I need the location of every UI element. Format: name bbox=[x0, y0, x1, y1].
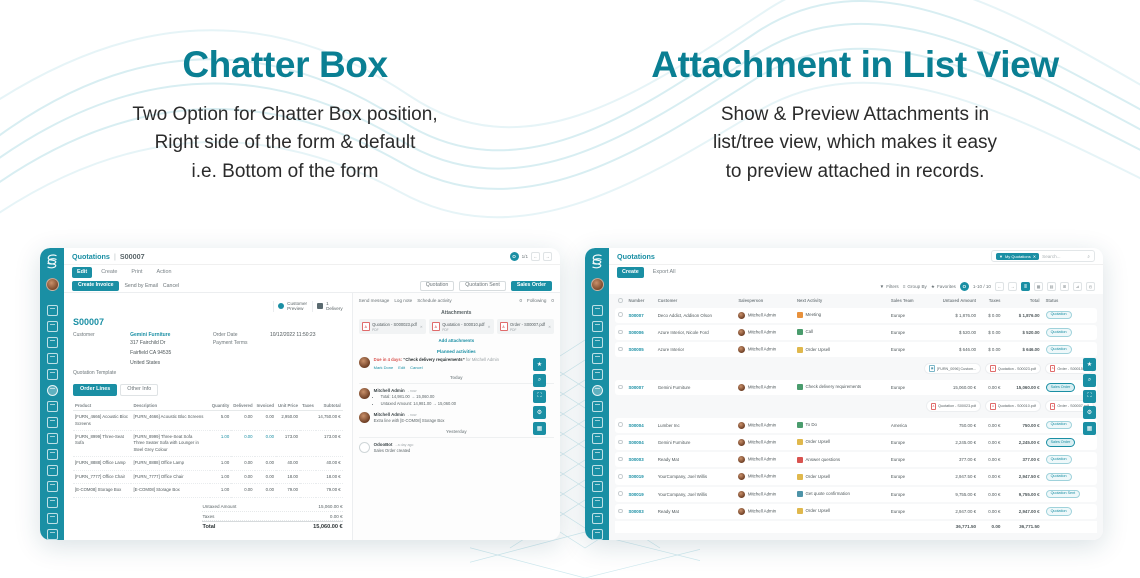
status-badge: Quotation bbox=[1046, 311, 1072, 319]
search-icon[interactable]: ⌕ bbox=[1087, 254, 1090, 259]
col-product[interactable]: Product bbox=[73, 400, 131, 411]
add-attachments-button[interactable]: Add attachments bbox=[359, 338, 554, 343]
col-next-activity[interactable]: Next Activity bbox=[794, 296, 888, 306]
page-subtitle-left: Two Option for Chatter Box position, Rig… bbox=[0, 101, 570, 188]
totals-block: Untaxed Amount 15,060.00 € Taxes 0.00 € … bbox=[202, 503, 342, 532]
attachment-chip[interactable]: AQuotation - S00023.pdf bbox=[926, 400, 982, 412]
sidebar-icon-calendar[interactable] bbox=[592, 337, 603, 348]
right-headline-block: Attachment in List View Show & Preview A… bbox=[570, 0, 1140, 187]
floating-action-rail-right: ★ ⌕ ⛶ ⚙ ▦ bbox=[1083, 358, 1096, 435]
col-untaxed-amount[interactable]: Untaxed Amount bbox=[926, 296, 979, 306]
table-header-row: Number Customer Salesperson Next Activit… bbox=[615, 296, 1097, 306]
field-label: Customer bbox=[73, 332, 130, 338]
cell-checkbox[interactable] bbox=[615, 452, 626, 467]
table-row[interactable]: [FURN_8888] Office Lamp[FURN_8888] Offic… bbox=[73, 457, 343, 471]
cell-quantity: 5.00 bbox=[210, 411, 231, 431]
cell-total: $ 1,876.00 bbox=[1003, 308, 1042, 323]
smart-button-count: 1 bbox=[326, 301, 329, 306]
form-fields-column: Customer Preview 1 Delivery S00007 bbox=[64, 293, 352, 540]
cell-taxes bbox=[300, 484, 316, 498]
cell-checkbox[interactable] bbox=[615, 504, 626, 519]
cell-number: S00005 bbox=[626, 342, 655, 357]
cell-checkbox[interactable] bbox=[615, 418, 626, 433]
sidebar-icon-messages[interactable] bbox=[592, 305, 603, 316]
sidebar-icon-recruitment[interactable] bbox=[47, 497, 58, 508]
form-topbar: Quotations | S00007 O 1/1 ← → bbox=[64, 248, 560, 265]
avatar bbox=[738, 312, 745, 319]
cell-sales-team: Europe bbox=[888, 504, 926, 519]
field-value[interactable]: 10/12/2022 11:50:23 bbox=[270, 332, 316, 338]
cell-total: 9,755.00 € bbox=[1003, 487, 1042, 502]
cell-taxes bbox=[300, 411, 316, 431]
attachment-chip[interactable]: ▣[FURN_0096] Custom... bbox=[924, 363, 981, 375]
cell-next-activity: To Do bbox=[794, 418, 888, 433]
cell-delivered: 0.00 bbox=[231, 411, 254, 431]
sidebar-icon-manufacturing[interactable] bbox=[47, 433, 58, 444]
field-column-left: Customer Gemini Furniture 317 Fairchild … bbox=[73, 332, 203, 378]
cell-total: 2,947.00 € bbox=[1003, 504, 1042, 519]
graph-view-icon[interactable]: ⊿ bbox=[1073, 282, 1082, 291]
cell-sales-team: America bbox=[888, 418, 926, 433]
log-note-button[interactable]: Log note bbox=[394, 298, 412, 303]
cell-next-activity: Answer questions bbox=[794, 452, 888, 467]
order-lines-body: [FURN_4666] Acoustic Bloc Screens[FURN_4… bbox=[73, 411, 343, 498]
cell-next-activity: Meeting bbox=[794, 308, 888, 323]
cell-untaxed-amount: $ 646.00 bbox=[926, 342, 979, 357]
breadcrumb-root[interactable]: Quotations bbox=[72, 252, 110, 261]
star-icon[interactable]: ★ bbox=[1083, 358, 1096, 371]
cell-checkbox[interactable] bbox=[615, 308, 626, 323]
star-icon[interactable]: ★ bbox=[533, 358, 546, 371]
sidebar-icon-manufacturing[interactable] bbox=[592, 433, 603, 444]
row-checkbox[interactable] bbox=[618, 422, 623, 427]
cell-total: $ 646.00 bbox=[1003, 342, 1042, 357]
sidebar-icon-website[interactable] bbox=[592, 465, 603, 476]
message-author: Mitchell Admin- now bbox=[374, 388, 554, 393]
activity-edit-button[interactable]: Edit bbox=[398, 365, 405, 370]
stage-quotation[interactable]: Quotation bbox=[420, 281, 455, 291]
field-label: Quotation Template bbox=[73, 370, 130, 376]
remove-attachment-icon[interactable]: ✕ bbox=[548, 325, 551, 329]
sidebar-icon-crm[interactable] bbox=[592, 369, 603, 380]
sidebar-icon-employees[interactable] bbox=[592, 481, 603, 492]
cell-untaxed-amount: 2,245.00 € bbox=[926, 435, 979, 450]
table-footer-row: 36,771.50 0.00 36,771.50 bbox=[615, 521, 1097, 533]
day-separator: Today bbox=[359, 375, 554, 384]
cell-total: 377.00 € bbox=[1003, 452, 1042, 467]
col-delivered[interactable]: Delivered bbox=[231, 400, 254, 411]
col-customer[interactable]: Customer bbox=[655, 296, 736, 306]
total-label: Taxes bbox=[202, 514, 214, 519]
attachment-chip[interactable]: AQuotation - S00010.pdfPDF✕ bbox=[429, 319, 494, 334]
message-thread: TodayMitchell Admin- nowTotal: 14,981.00… bbox=[359, 375, 554, 454]
cell-number: S00019 bbox=[626, 487, 655, 502]
cell-subtotal: 14,750.00 € bbox=[316, 411, 343, 431]
table-row[interactable]: S00019YourCompany, Joel WillisMitchell A… bbox=[615, 469, 1097, 484]
calendar-view-icon[interactable]: ▤ bbox=[1047, 282, 1056, 291]
export-all-button[interactable]: Export All bbox=[648, 267, 681, 278]
cell-subtotal: 79.00 € bbox=[316, 484, 343, 498]
pdf-file-icon: A bbox=[1050, 365, 1056, 372]
schedule-activity-button[interactable]: Schedule activity bbox=[417, 298, 451, 303]
activity-assignee: for Mitchell Admin bbox=[466, 357, 499, 362]
cell-invoiced: 0.00 bbox=[255, 411, 276, 431]
cell-status: Quotation bbox=[1043, 452, 1097, 467]
cell-unit-price: 79.00 bbox=[276, 484, 300, 498]
sidebar-icon-discuss[interactable] bbox=[47, 321, 58, 332]
favorites-button[interactable]: ★ Favorites bbox=[931, 284, 956, 290]
field-order-date: Order Date 10/12/2022 11:50:23 bbox=[213, 332, 343, 338]
cell-total: $ 520.00 bbox=[1003, 325, 1042, 340]
sidebar-icon-website[interactable] bbox=[47, 465, 58, 476]
sidebar-icon-sales[interactable] bbox=[592, 385, 603, 396]
avatar bbox=[738, 439, 745, 446]
record-title: S00007 bbox=[73, 317, 343, 327]
attachment-type: PDF bbox=[442, 328, 448, 332]
cell-subtotal: 18.00 € bbox=[316, 470, 343, 484]
pdf-file-icon: A bbox=[362, 322, 370, 331]
col-taxes[interactable]: Taxes bbox=[300, 400, 316, 411]
row-checkbox[interactable] bbox=[618, 509, 623, 514]
activity-view-icon[interactable]: ◴ bbox=[1086, 282, 1095, 291]
cell-checkbox[interactable] bbox=[615, 487, 626, 502]
cell-sales-team: Europe bbox=[888, 452, 926, 467]
sidebar-icon-sales[interactable] bbox=[47, 385, 58, 396]
breadcrumb-root[interactable]: Quotations bbox=[617, 252, 655, 261]
table-row[interactable]: [E-COM08] Storage Box[E-COM08] Storage B… bbox=[73, 484, 343, 498]
breadcrumb-separator: | bbox=[114, 252, 116, 261]
cell-next-activity: Order Upsell bbox=[794, 469, 888, 484]
table-row[interactable]: S00019YourCompany, Joel WillisMitchell A… bbox=[615, 487, 1097, 502]
cell-sales-team: Europe bbox=[888, 487, 926, 502]
create-invoice-button[interactable]: Create Invoice bbox=[72, 281, 119, 291]
sidebar-icon-inventory[interactable] bbox=[47, 417, 58, 428]
sidebar-icon-invoicing[interactable] bbox=[47, 401, 58, 412]
cell-checkbox[interactable] bbox=[615, 435, 626, 450]
list-topbar: Quotations ▼ My Quotations ✕ Search... ⌕ bbox=[609, 248, 1103, 265]
followers-count[interactable]: 0 bbox=[519, 298, 522, 303]
message-line: Extra line with [E-COM08] Storage Box bbox=[374, 418, 554, 424]
table-row[interactable]: [FURN_8999] Three-Seat Sofa[FURN_8999] T… bbox=[73, 431, 343, 457]
stage-quotation-sent[interactable]: Quotation Sent bbox=[459, 281, 506, 291]
row-checkbox[interactable] bbox=[618, 491, 623, 496]
footer-total: 36,771.50 bbox=[1003, 521, 1042, 533]
avatar bbox=[359, 442, 370, 453]
sidebar-icon-inventory[interactable] bbox=[592, 417, 603, 428]
group-by-button[interactable]: ≡ Group By bbox=[903, 284, 927, 289]
sidebar-icon-invoicing[interactable] bbox=[592, 401, 603, 412]
pdf-file-icon: A bbox=[931, 403, 937, 410]
customer-preview-smart-button[interactable]: Customer Preview bbox=[273, 301, 307, 312]
activity-mark-done-button[interactable]: Mark Done bbox=[374, 365, 394, 370]
cell-customer: YourCompany, Joel Willis bbox=[655, 469, 736, 484]
row-checkbox[interactable] bbox=[618, 440, 623, 445]
grid-icon[interactable]: ▦ bbox=[533, 422, 546, 435]
col-number[interactable]: Number bbox=[626, 296, 655, 306]
avatar bbox=[738, 422, 745, 429]
col-sales-team[interactable]: Sales Team bbox=[888, 296, 926, 306]
cell-sales-team: Europe bbox=[888, 342, 926, 357]
cell-total: 750.00 € bbox=[1003, 418, 1042, 433]
attachment-name: Quotation - S00023.pdf bbox=[938, 404, 976, 408]
activity-cancel-button[interactable]: Cancel bbox=[410, 365, 422, 370]
odoo-logo-icon[interactable] bbox=[588, 252, 606, 270]
col-subtotal[interactable]: Subtotal bbox=[316, 400, 343, 411]
avatar bbox=[738, 346, 745, 353]
send-message-button[interactable]: Send message bbox=[359, 298, 390, 303]
field-value: United States bbox=[130, 360, 160, 368]
cell-salesperson: Mitchell Admin bbox=[735, 469, 794, 484]
filter-icon: ▼ bbox=[880, 284, 885, 289]
field-value[interactable]: Gemini Furniture bbox=[130, 332, 170, 338]
field-grid: Customer Gemini Furniture 317 Fairchild … bbox=[73, 332, 343, 378]
following-button[interactable]: Following bbox=[527, 298, 546, 303]
sidebar-icon-messages[interactable] bbox=[47, 305, 58, 316]
cell-total: 2,245.00 € bbox=[1003, 435, 1042, 450]
sidebar-icon-settings[interactable] bbox=[47, 529, 58, 540]
table-row[interactable]: [FURN_7777] Office Chair[FURN_7777] Offi… bbox=[73, 470, 343, 484]
chatter-box: Send message Log note Schedule activity … bbox=[352, 293, 560, 540]
smart-button-label-2: Preview bbox=[287, 306, 303, 311]
col-salesperson[interactable]: Salesperson bbox=[735, 296, 794, 306]
sidebar-icon-contacts[interactable] bbox=[592, 353, 603, 364]
sidebar-icon-settings[interactable] bbox=[592, 529, 603, 540]
cell-taxes: 0.00 € bbox=[979, 504, 1003, 519]
cell-salesperson: Mitchell Admin bbox=[735, 435, 794, 450]
planned-activities-header: Planned activities bbox=[359, 349, 554, 354]
cell-checkbox[interactable] bbox=[615, 469, 626, 484]
order-lines-table: Product Description Quantity Delivered I… bbox=[73, 400, 343, 498]
attachment-chip[interactable]: AOrder - S00007.pdfPDF✕ bbox=[497, 319, 554, 334]
day-separator: Yesterday bbox=[359, 429, 554, 438]
cell-salesperson: Mitchell Admin bbox=[735, 342, 794, 357]
form-pane: Quotations | S00007 O 1/1 ← → Edit Creat… bbox=[64, 248, 560, 540]
field-payment-terms: Payment Terms bbox=[213, 340, 343, 346]
col-status[interactable]: Status bbox=[1043, 296, 1097, 306]
row-checkbox[interactable] bbox=[618, 312, 623, 317]
cell-taxes bbox=[300, 457, 316, 471]
pager-prev-button[interactable]: ← bbox=[531, 252, 540, 261]
status-badge: Quotation bbox=[1046, 455, 1072, 463]
favorites-label: Favorites bbox=[937, 284, 956, 289]
field-value: Fairfield CA 94535 bbox=[130, 350, 171, 358]
search-icon[interactable]: ⌕ bbox=[1083, 374, 1096, 387]
row-checkbox[interactable] bbox=[618, 385, 623, 390]
cell-status: Quotation bbox=[1043, 325, 1097, 340]
left-headline-block: Chatter Box Two Option for Chatter Box p… bbox=[0, 0, 570, 187]
avatar bbox=[738, 491, 745, 498]
settings-icon[interactable]: ⚙ bbox=[1083, 406, 1096, 419]
list-toolbar: ▼ Filters ≡ Group By ★ Favorites O 1-10 … bbox=[609, 280, 1103, 294]
settings-icon[interactable]: ⚙ bbox=[533, 406, 546, 419]
sidebar-icon-apps[interactable] bbox=[47, 513, 58, 524]
cell-customer: Lumber Inc bbox=[655, 418, 736, 433]
cell-untaxed-amount: 2,947.00 € bbox=[926, 504, 979, 519]
expand-icon[interactable]: ⛶ bbox=[1083, 390, 1096, 403]
search-facet[interactable]: ▼ My Quotations ✕ bbox=[996, 253, 1039, 260]
avatar[interactable] bbox=[591, 278, 604, 291]
attachment-list: AQuotation - S000023.pdfPDF✕AQuotation -… bbox=[359, 319, 554, 334]
row-checkbox[interactable] bbox=[618, 457, 623, 462]
create-button[interactable]: Create bbox=[617, 267, 644, 278]
cell-next-activity: Check delivery requirements bbox=[794, 380, 888, 395]
edit-button[interactable]: Edit bbox=[72, 267, 92, 278]
row-checkbox[interactable] bbox=[618, 330, 623, 335]
list-view-icon[interactable]: ≣ bbox=[1021, 282, 1030, 291]
activity-due: Due in 4 days: bbox=[374, 357, 402, 362]
table-row[interactable]: S00007Gemini FurnitureMitchell AdminChec… bbox=[615, 380, 1097, 395]
sidebar-icon-contacts[interactable] bbox=[47, 353, 58, 364]
avatar bbox=[738, 329, 745, 336]
col-quantity[interactable]: Quantity bbox=[210, 400, 231, 411]
cell-salesperson: Mitchell Admin bbox=[735, 418, 794, 433]
table-row[interactable]: S00004Gemini FurnitureMitchell AdminOrde… bbox=[615, 435, 1097, 450]
attachment-name: [FURN_0096] Custom... bbox=[937, 367, 976, 371]
cell-unit-price: 2,950.00 bbox=[276, 411, 300, 431]
total-untaxed: Untaxed Amount 15,060.00 € bbox=[202, 503, 342, 512]
attachment-name: Order - S00007.pdf bbox=[510, 322, 545, 327]
sidebar-icon-recruitment[interactable] bbox=[592, 497, 603, 508]
cell-customer: Azure Interior, Nicole Ford bbox=[655, 325, 736, 340]
cell-status: Sales Order bbox=[1043, 435, 1097, 450]
total-value: 15,060.00 € bbox=[318, 504, 342, 509]
col-unit-price[interactable]: Unit Price bbox=[276, 400, 300, 411]
cell-status: Quotation bbox=[1043, 504, 1097, 519]
col-invoiced[interactable]: Invoiced bbox=[255, 400, 276, 411]
row-checkbox[interactable] bbox=[618, 347, 623, 352]
table-row[interactable]: S00005Azure InteriorMitchell AdminOrder … bbox=[615, 342, 1097, 357]
cell-number: S00004 bbox=[626, 435, 655, 450]
attachment-row: ▣[FURN_0096] Custom...AQuotation - S0002… bbox=[615, 359, 1097, 377]
pdf-file-icon: A bbox=[500, 322, 508, 331]
table-row[interactable]: [FURN_4666] Acoustic Bloc Screens[FURN_4… bbox=[73, 411, 343, 431]
cell-quantity: 1.00 bbox=[210, 470, 231, 484]
search-facet-label: My Quotations bbox=[1005, 254, 1031, 259]
tab-order-lines[interactable]: Order Lines bbox=[73, 384, 117, 396]
grid-icon[interactable]: ▦ bbox=[1083, 422, 1096, 435]
cell-checkbox[interactable] bbox=[615, 380, 626, 395]
pager-next-button[interactable]: → bbox=[543, 252, 552, 261]
attachment-name: Quotation - S00023.pdf bbox=[998, 367, 1036, 371]
cell-checkbox[interactable] bbox=[615, 325, 626, 340]
stage-sales-order[interactable]: Sales Order bbox=[511, 281, 552, 291]
cell-next-activity: Order Upsell bbox=[794, 435, 888, 450]
pager-range: 1-10 / 10 bbox=[973, 284, 991, 289]
cell-checkbox[interactable] bbox=[615, 342, 626, 357]
search-icon[interactable]: ⌕ bbox=[533, 374, 546, 387]
breadcrumb[interactable]: Quotations bbox=[617, 252, 655, 261]
follower-badge[interactable]: 0 bbox=[551, 298, 554, 303]
message-item: Mitchell Admin- nowTotal: 14,981.00 → 15… bbox=[359, 388, 554, 407]
sidebar-icon-employees[interactable] bbox=[47, 481, 58, 492]
attachment-name: Quotation - S00010.pdf bbox=[442, 322, 484, 327]
cell-taxes: 0.00 € bbox=[979, 487, 1003, 502]
remove-attachment-icon[interactable]: ✕ bbox=[420, 325, 423, 329]
cell-untaxed-amount: 750.00 € bbox=[926, 418, 979, 433]
status-badge: Quotation bbox=[1046, 421, 1072, 429]
sidebar-icon-apps[interactable] bbox=[592, 513, 603, 524]
cell-product: [FURN_8999] Three-Seat Sofa bbox=[73, 431, 131, 457]
record-indicator-icon: O bbox=[510, 252, 519, 261]
sidebar-icon-purchase[interactable] bbox=[592, 449, 603, 460]
pager-next-button[interactable]: → bbox=[1008, 282, 1017, 291]
status-badge: Quotation bbox=[1046, 345, 1072, 353]
cell-subtotal: 173.00 € bbox=[316, 431, 343, 457]
odoo-logo-icon[interactable] bbox=[43, 252, 61, 270]
table-row[interactable]: S00004Lumber IncMitchell AdminTo DoAmeri… bbox=[615, 418, 1097, 433]
sidebar-icon-discuss[interactable] bbox=[592, 321, 603, 332]
create-button[interactable]: Create bbox=[96, 267, 122, 278]
status-badge: Sales Order bbox=[1046, 383, 1076, 391]
app-sidebar-left[interactable] bbox=[40, 248, 64, 540]
cell-taxes bbox=[300, 431, 316, 457]
attachment-name: Quotation - S000023.pdf bbox=[372, 322, 417, 327]
print-button[interactable]: Print bbox=[126, 267, 147, 278]
search-input[interactable]: ▼ My Quotations ✕ Search... ⌕ bbox=[991, 250, 1095, 262]
message-time: - now bbox=[408, 413, 417, 417]
avatar[interactable] bbox=[46, 278, 59, 291]
expand-icon[interactable]: ⛶ bbox=[533, 390, 546, 403]
cell-sales-team: Europe bbox=[888, 469, 926, 484]
total-value: 15,060.00 € bbox=[313, 524, 343, 530]
cell-description: [FURN_8999] Three-Seat SofaThree Seater … bbox=[131, 431, 209, 457]
delivery-smart-button[interactable]: 1 Delivery bbox=[312, 301, 343, 312]
field-label: Payment Terms bbox=[213, 340, 270, 346]
table-row[interactable]: S00003Ready MatMitchell AdminOrder Upsel… bbox=[615, 504, 1097, 519]
sidebar-icon-crm[interactable] bbox=[47, 369, 58, 380]
sidebar-icon-calendar[interactable] bbox=[47, 337, 58, 348]
cell-quantity: 1.00 bbox=[210, 431, 231, 457]
chatter-toolbar: Send message Log note Schedule activity … bbox=[359, 297, 554, 307]
attachment-chip[interactable]: AQuotation - S00010.pdf bbox=[985, 400, 1041, 412]
attachment-chip[interactable]: AQuotation - S00023.pdf bbox=[985, 363, 1041, 375]
kanban-view-icon[interactable]: ▦ bbox=[1034, 282, 1043, 291]
col-taxes[interactable]: Taxes bbox=[979, 296, 1003, 306]
table-row[interactable]: S00007Deco Addict, Addison OlsonMitchell… bbox=[615, 308, 1097, 323]
cell-untaxed-amount: 377.00 € bbox=[926, 452, 979, 467]
remove-facet-icon[interactable]: ✕ bbox=[1033, 254, 1036, 259]
cell-product: [E-COM08] Storage Box bbox=[73, 484, 131, 498]
app-sidebar-right[interactable] bbox=[585, 248, 609, 540]
activity-type-icon bbox=[797, 508, 803, 514]
quotations-table: Number Customer Salesperson Next Activit… bbox=[609, 294, 1103, 535]
select-all-checkbox[interactable] bbox=[618, 298, 623, 303]
col-description[interactable]: Description bbox=[131, 400, 209, 411]
filters-button[interactable]: ▼ Filters bbox=[880, 284, 899, 289]
send-by-email-button[interactable]: Send by Email bbox=[124, 283, 157, 289]
cell-number: S00003 bbox=[626, 452, 655, 467]
list-indicator-icon: O bbox=[960, 282, 969, 291]
breadcrumb[interactable]: Quotations | S00007 bbox=[72, 252, 145, 261]
remove-attachment-icon[interactable]: ✕ bbox=[488, 325, 491, 329]
cancel-button[interactable]: Cancel bbox=[163, 283, 179, 289]
pager-index: 1/1 bbox=[522, 254, 528, 259]
pager-prev-button[interactable]: ← bbox=[995, 282, 1004, 291]
smart-button-label-delivery: Delivery bbox=[326, 306, 343, 311]
pivot-view-icon[interactable]: ⊞ bbox=[1060, 282, 1069, 291]
col-total[interactable]: Total bbox=[1003, 296, 1042, 306]
table-row[interactable]: S00003Ready MatMitchell AdminAnswer ques… bbox=[615, 452, 1097, 467]
table-row[interactable]: S00006Azure Interior, Nicole FordMitchel… bbox=[615, 325, 1097, 340]
attachment-chip[interactable]: AQuotation - S000023.pdfPDF✕ bbox=[359, 319, 426, 334]
sidebar-icon-purchase[interactable] bbox=[47, 449, 58, 460]
page-title-left: Chatter Box bbox=[0, 44, 570, 87]
tab-other-info[interactable]: Other Info bbox=[120, 384, 158, 396]
row-checkbox[interactable] bbox=[618, 474, 623, 479]
cell-untaxed-amount: $ 520.00 bbox=[926, 325, 979, 340]
field-customer: Customer Gemini Furniture bbox=[73, 332, 203, 338]
action-button[interactable]: Action bbox=[151, 267, 176, 278]
